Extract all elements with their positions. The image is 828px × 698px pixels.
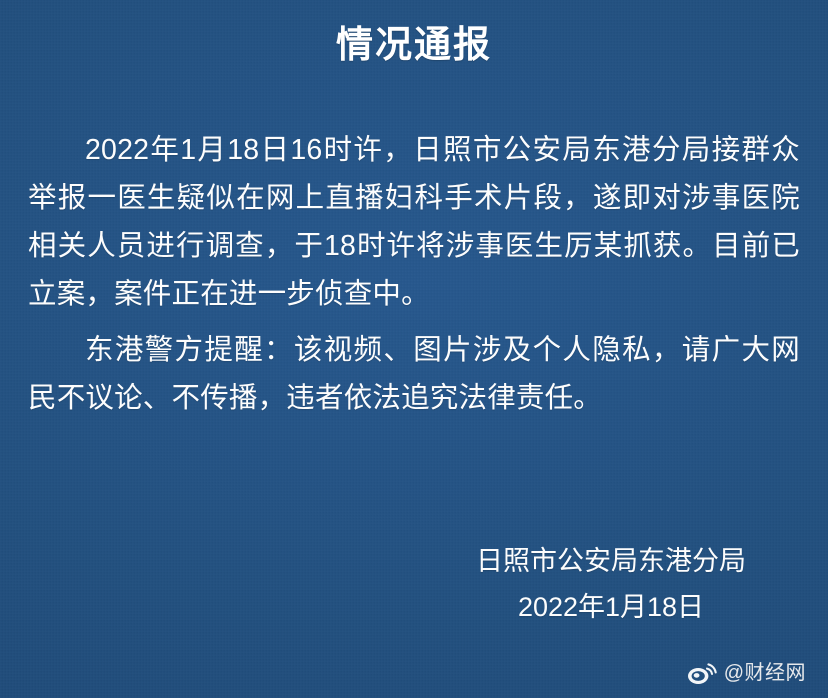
- page-title: 情况通报: [0, 20, 828, 70]
- signature-organization: 日照市公安局东港分局: [476, 538, 746, 584]
- body-paragraph-1: 2022年1月18日16时许，日照市公安局东港分局接群众举报一医生疑似在网上直播…: [28, 126, 800, 318]
- body-paragraph-2: 东港警方提醒：该视频、图片涉及个人隐私，请广大网民不议论、不传播，违者依法追究法…: [28, 326, 800, 422]
- signature-block: 日照市公安局东港分局 2022年1月18日: [476, 538, 746, 630]
- weibo-logo-icon: [687, 660, 717, 686]
- watermark-label: @财经网: [724, 661, 806, 685]
- notice-card: 情况通报 2022年1月18日16时许，日照市公安局东港分局接群众举报一医生疑似…: [0, 0, 828, 698]
- watermark: @财经网: [687, 660, 806, 686]
- notice-body: 2022年1月18日16时许，日照市公安局东港分局接群众举报一医生疑似在网上直播…: [28, 126, 800, 422]
- signature-date: 2022年1月18日: [476, 584, 746, 630]
